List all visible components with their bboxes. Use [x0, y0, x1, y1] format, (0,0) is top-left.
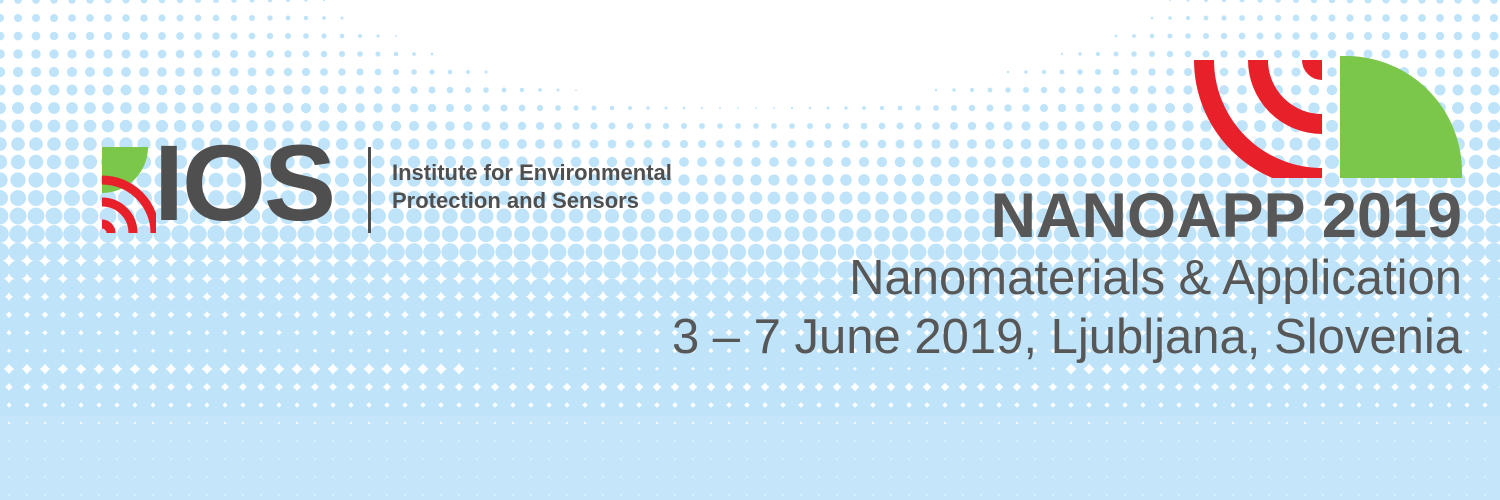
nanoapp-dateline: 3 – 7 June 2019, Ljubljana, Slovenia [672, 309, 1462, 365]
nanoapp-block: NANOAPP 2019 Nanomaterials & Application… [672, 50, 1462, 365]
nanoapp-signal-waves [1204, 60, 1322, 178]
nanoapp-mark-icon [1194, 50, 1462, 178]
nanoapp-green-quadrant [1340, 56, 1462, 178]
ios-tagline: Institute for Environmental Protection a… [392, 159, 672, 215]
ios-tagline-line-1: Institute for Environmental [392, 159, 672, 187]
nanoapp-title: NANOAPP 2019 [672, 184, 1462, 248]
ios-tagline-line-2: Protection and Sensors [392, 187, 672, 215]
ios-mark-icon [100, 145, 156, 235]
nanoapp-subtitle: Nanomaterials & Application [672, 250, 1462, 306]
ios-logo: IOS Institute for Environmental Protecti… [100, 145, 670, 240]
ios-divider [368, 147, 371, 233]
ios-wordmark: IOS [154, 129, 334, 237]
conference-banner: IOS Institute for Environmental Protecti… [0, 0, 1500, 500]
